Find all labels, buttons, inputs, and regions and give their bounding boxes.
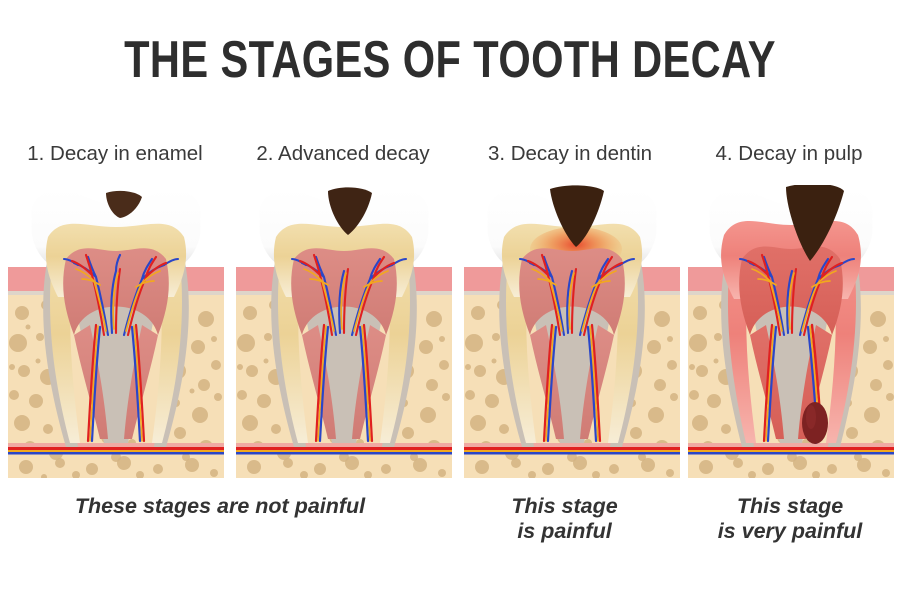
stage-diagram-3 — [464, 185, 680, 480]
page-title: THE STAGES OF TOOTH DECAY — [90, 30, 810, 90]
stage-label-1: 1. Decay in enamel — [0, 142, 230, 166]
caption-line: This stage — [462, 494, 667, 519]
stage-label-4: 4. Decay in pulp — [678, 142, 900, 166]
caption-line: is painful — [462, 519, 667, 544]
tooth-decay-infographic: THE STAGES OF TOOTH DECAY 1. Decay in en… — [0, 0, 900, 600]
caption-line: These stages are not painful — [10, 494, 430, 519]
stage-diagram-4 — [688, 185, 894, 480]
caption-line: is very painful — [680, 519, 900, 544]
caption-stages-1-2: These stages are not painful — [10, 494, 430, 519]
abscess-highlight — [806, 405, 816, 429]
stage-diagram-1 — [8, 185, 224, 480]
caption-line: This stage — [680, 494, 900, 519]
caption-stage-3: This stage is painful — [462, 494, 667, 545]
stage-label-2: 2. Advanced decay — [228, 142, 458, 166]
caption-stage-4: This stage is very painful — [680, 494, 900, 545]
stage-diagram-2 — [236, 185, 452, 480]
stage-label-3: 3. Decay in dentin — [455, 142, 685, 166]
